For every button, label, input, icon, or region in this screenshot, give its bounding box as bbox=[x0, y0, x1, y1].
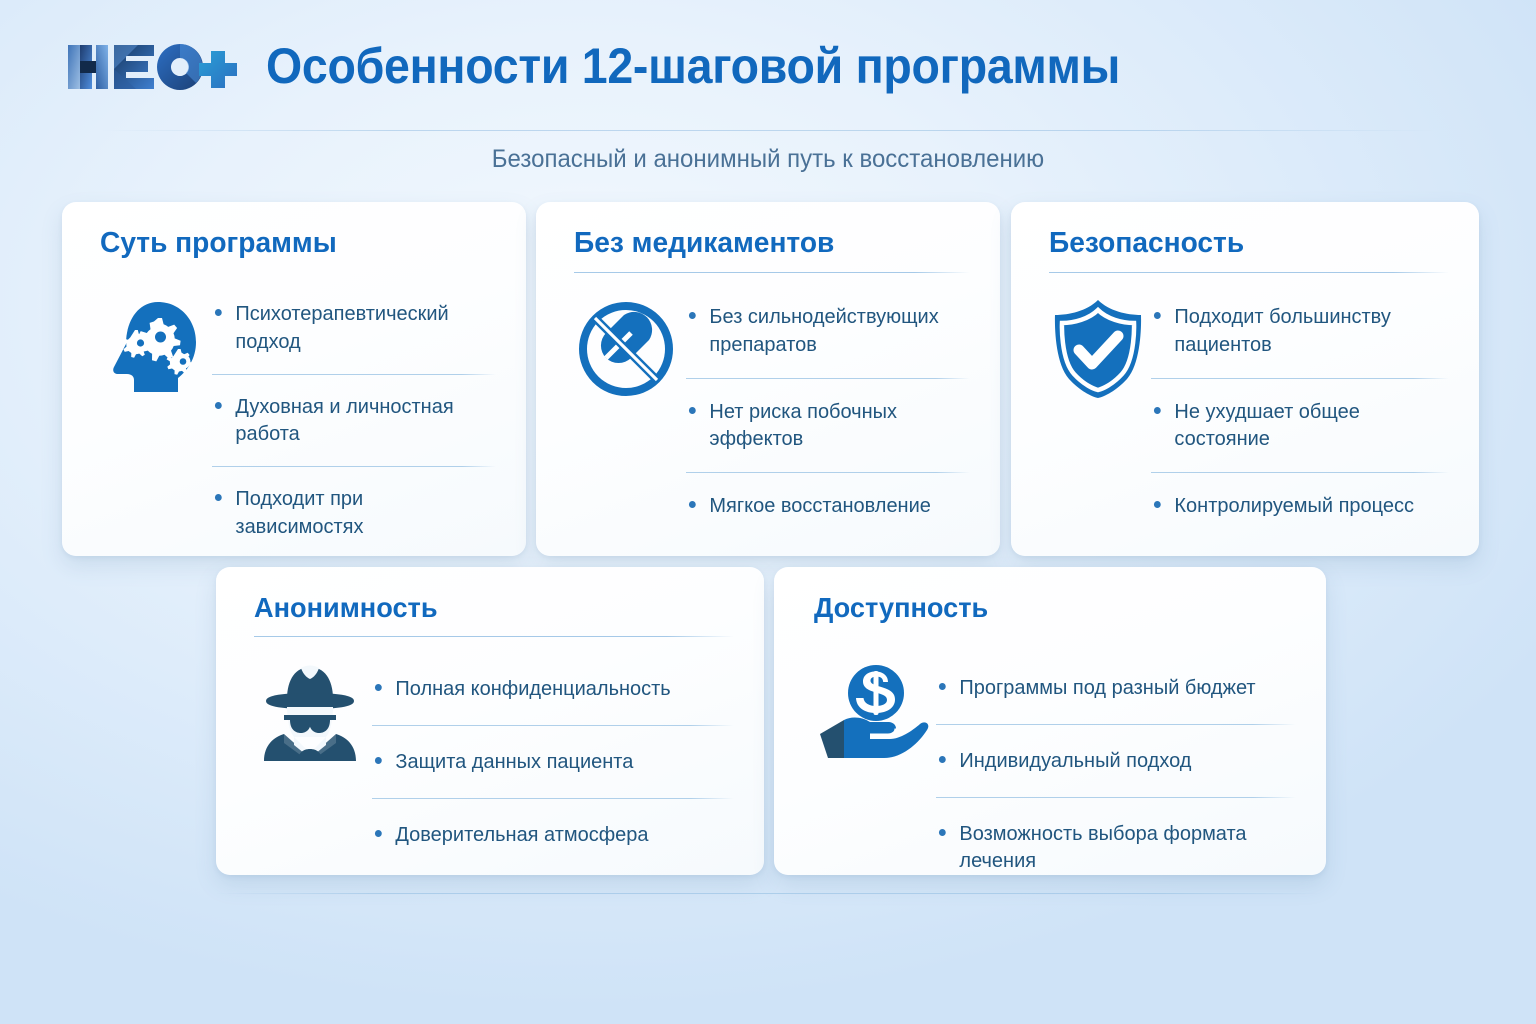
bullet-divider bbox=[1151, 378, 1449, 379]
bullet-divider bbox=[936, 724, 1296, 725]
head-with-gears-icon bbox=[100, 296, 204, 400]
list-item: Индивидуальный подход bbox=[936, 747, 1287, 775]
header-divider bbox=[100, 130, 1436, 131]
list-item: Полная конфиденциальность bbox=[372, 675, 725, 703]
card-body: Психотерапевтический подход Духовная и л… bbox=[100, 276, 496, 540]
list-item: Возможность выбора формата лечения bbox=[936, 820, 1287, 875]
hand-with-dollar-coin-icon bbox=[814, 658, 930, 768]
list-item: Психотерапевтический подход bbox=[212, 300, 489, 355]
list-item-label: Программы под разный бюджет bbox=[959, 676, 1255, 699]
list-item-label: Полная конфиденциальность bbox=[395, 677, 670, 700]
list-item-label: Не ухудшает общее состояние bbox=[1174, 400, 1359, 451]
footer-divider bbox=[216, 893, 1322, 894]
card-body: Программы под разный бюджет Индивидуальн… bbox=[814, 640, 1296, 875]
bullet-dot-icon bbox=[375, 684, 382, 691]
bullet-dot-icon bbox=[215, 494, 222, 501]
bullet-dot-icon bbox=[939, 756, 946, 763]
bullet-divider bbox=[686, 378, 970, 379]
page-title: Особенности 12-шаговой программы bbox=[266, 41, 1120, 91]
card-title: Без медикаментов bbox=[574, 228, 958, 258]
bullet-dot-icon bbox=[375, 830, 382, 837]
card-title: Суть программы bbox=[100, 228, 484, 258]
infographic-canvas: Особенности 12-шаговой программы Безопас… bbox=[0, 0, 1536, 1024]
shield-check-icon bbox=[1049, 297, 1147, 401]
bullet-dot-icon bbox=[1154, 407, 1161, 414]
list-item: Подходит большинству пациентов bbox=[1151, 303, 1442, 358]
bullet-divider bbox=[212, 466, 496, 467]
bullet-dot-icon bbox=[1154, 501, 1161, 508]
list-item: Защита данных пациента bbox=[372, 748, 725, 776]
bullet-dot-icon bbox=[689, 407, 696, 414]
card-title: Анонимность bbox=[254, 593, 720, 622]
list-item: Нет риска побочных эффектов bbox=[686, 398, 963, 453]
neo-plus-logo-icon bbox=[66, 39, 246, 95]
page-subtitle: Безопасный и анонимный путь к восстановл… bbox=[31, 145, 1506, 174]
list-item-label: Защита данных пациента bbox=[395, 750, 633, 773]
card-bez-medikamentov[interactable]: Без медикаментов Без сильнодействующих п… bbox=[536, 202, 1000, 556]
list-item: Контролируемый процесс bbox=[1151, 492, 1442, 520]
bullet-divider bbox=[686, 472, 970, 473]
card-body: Без сильнодействующих препаратов Нет рис… bbox=[574, 277, 970, 536]
list-item-label: Подходит большинству пациентов bbox=[1174, 305, 1390, 356]
list-item-label: Индивидуальный подход bbox=[959, 749, 1191, 772]
bullet-divider bbox=[372, 725, 734, 726]
card-bullet-list: Без сильнодействующих препаратов Нет рис… bbox=[686, 291, 970, 536]
card-bullet-list: Полная конфиденциальность Защита данных … bbox=[372, 655, 734, 855]
list-item-label: Без сильнодействующих препаратов bbox=[709, 305, 938, 356]
card-dostupnost[interactable]: Доступность Программы под разный бюд bbox=[774, 567, 1326, 875]
bullet-dot-icon bbox=[375, 757, 382, 764]
card-bezopasnost[interactable]: Безопасность Подходит большинству пациен… bbox=[1011, 202, 1479, 556]
list-item-label: Возможность выбора формата лечения bbox=[959, 822, 1246, 873]
bullet-divider bbox=[1151, 472, 1449, 473]
list-item-label: Психотерапевтический подход bbox=[235, 302, 448, 353]
list-item: Мягкое восстановление bbox=[686, 492, 963, 520]
card-body: Подходит большинству пациентов Не ухудша… bbox=[1049, 277, 1449, 536]
incognito-spy-icon bbox=[254, 657, 366, 769]
list-item-label: Нет риска побочных эффектов bbox=[709, 400, 897, 451]
list-item: Доверительная атмосфера bbox=[372, 821, 725, 849]
list-item-label: Мягкое восстановление bbox=[709, 494, 930, 517]
bullet-dot-icon bbox=[1154, 312, 1161, 319]
card-title: Доступность bbox=[814, 593, 1282, 622]
bullet-dot-icon bbox=[215, 309, 222, 316]
bullet-dot-icon bbox=[939, 683, 946, 690]
card-title: Безопасность bbox=[1049, 228, 1437, 258]
bullet-divider bbox=[212, 374, 496, 375]
list-item: Программы под разный бюджет bbox=[936, 674, 1287, 702]
list-item: Духовная и личностная работа bbox=[212, 393, 489, 448]
card-bullet-list: Подходит большинству пациентов Не ухудша… bbox=[1151, 291, 1449, 536]
card-body: Полная конфиденциальность Защита данных … bbox=[254, 641, 734, 855]
card-bullet-list: Психотерапевтический подход Духовная и л… bbox=[212, 290, 496, 540]
card-anonimnost[interactable]: Анонимность П bbox=[216, 567, 764, 875]
page-header: Особенности 12-шаговой программы bbox=[0, 0, 1536, 132]
list-item: Не ухудшает общее состояние bbox=[1151, 398, 1442, 453]
bullet-dot-icon bbox=[215, 402, 222, 409]
list-item: Без сильнодействующих препаратов bbox=[686, 303, 963, 358]
bullet-dot-icon bbox=[689, 312, 696, 319]
no-pills-icon bbox=[574, 297, 678, 401]
card-title-divider bbox=[574, 272, 970, 273]
list-item-label: Подходит при зависимостях bbox=[235, 487, 363, 538]
list-item-label: Доверительная атмосфера bbox=[395, 823, 648, 846]
card-bullet-list: Программы под разный бюджет Индивидуальн… bbox=[936, 654, 1296, 875]
card-title-divider bbox=[254, 636, 734, 637]
bullet-dot-icon bbox=[689, 501, 696, 508]
bullet-divider bbox=[936, 797, 1296, 798]
card-title-divider bbox=[1049, 272, 1449, 273]
card-sut-programmy[interactable]: Суть программы bbox=[62, 202, 526, 556]
bullet-divider bbox=[372, 798, 734, 799]
list-item-label: Контролируемый процесс bbox=[1174, 494, 1414, 517]
bullet-dot-icon bbox=[939, 829, 946, 836]
list-item: Подходит при зависимостях bbox=[212, 485, 489, 540]
list-item-label: Духовная и личностная работа bbox=[235, 395, 453, 446]
